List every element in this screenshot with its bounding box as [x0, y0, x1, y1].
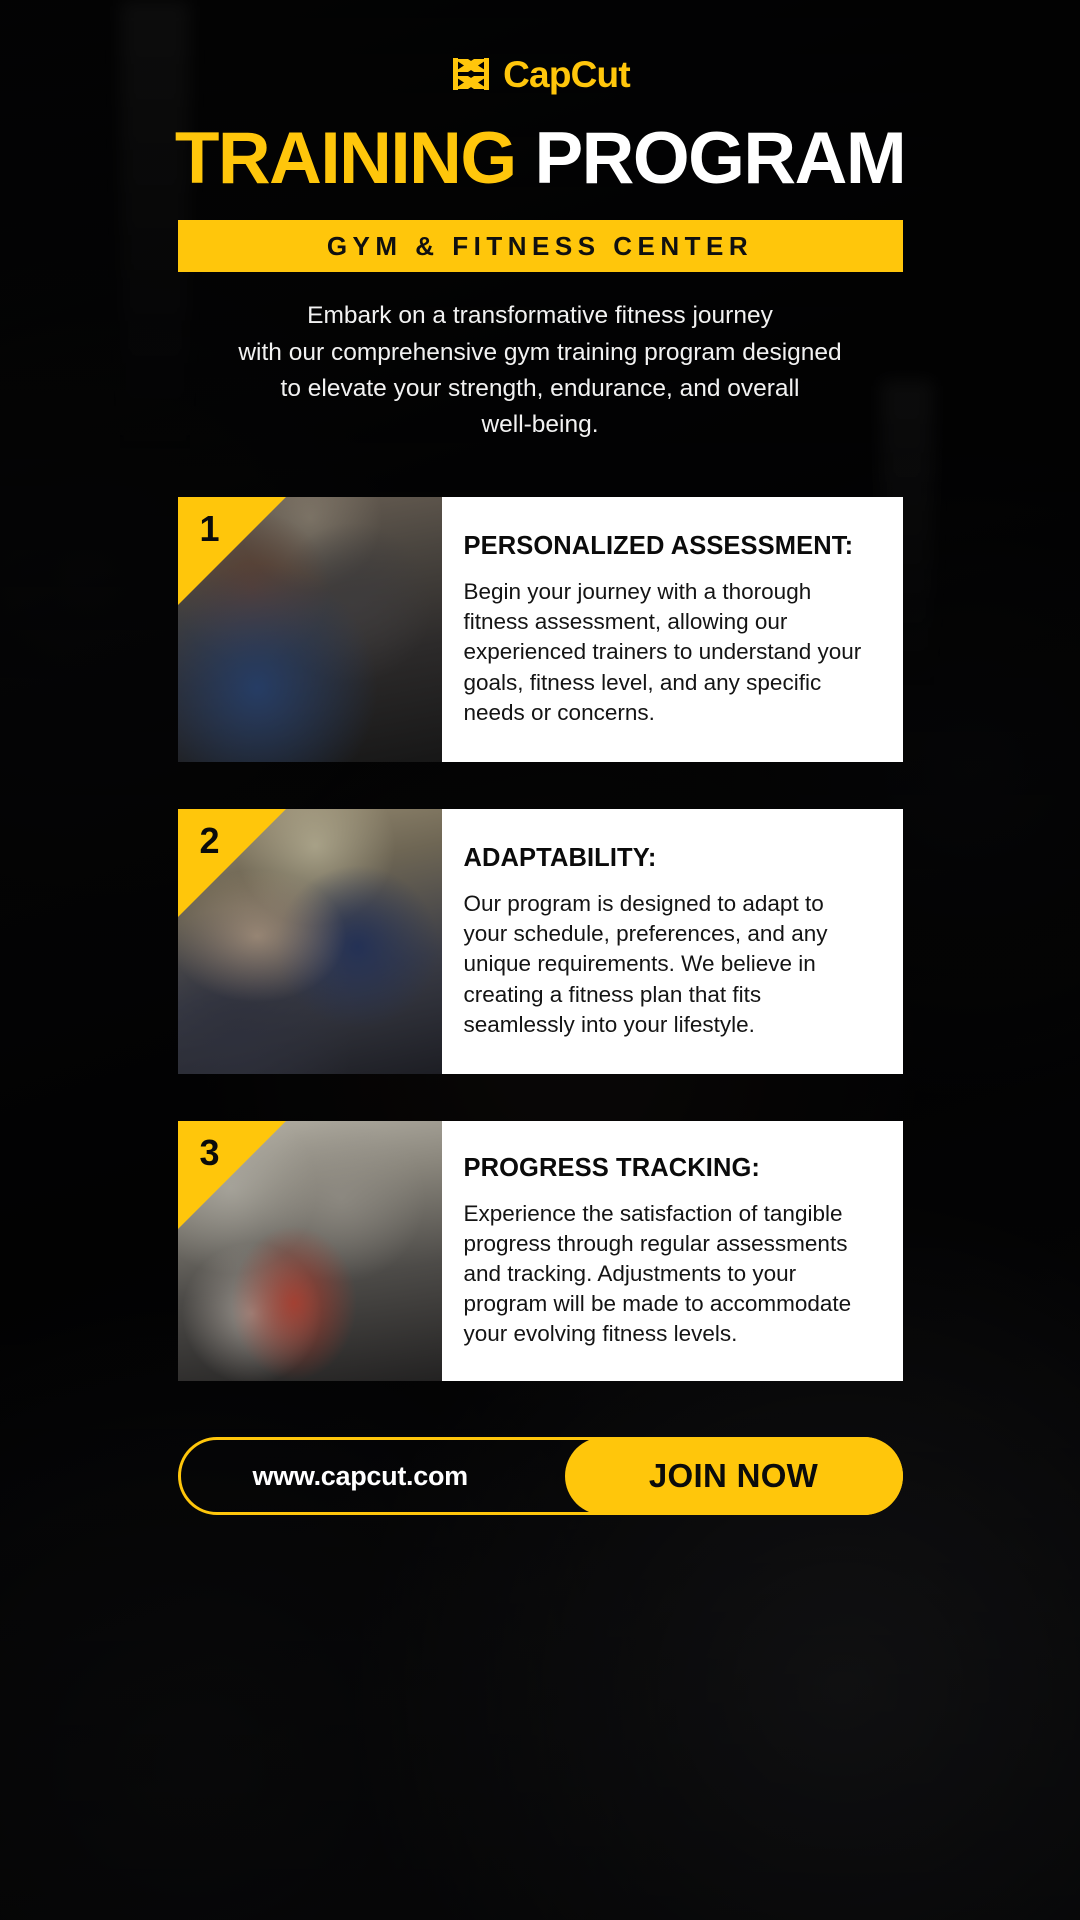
capcut-logo-icon — [450, 55, 492, 93]
step-number-1: 1 — [200, 511, 220, 547]
step-text-2: Our program is designed to adapt to your… — [464, 889, 869, 1040]
program-step-card: 3 PROGRESS TRACKING: Experience the sati… — [178, 1121, 903, 1381]
step-content: PERSONALIZED ASSESSMENT: Begin your jour… — [442, 497, 903, 762]
capcut-logo-text: CapCut — [503, 56, 630, 93]
step-photo-3: 3 — [178, 1121, 442, 1381]
step-corner-triangle — [178, 497, 286, 605]
poster-header: CapCut TRAINING PROGRAM GYM & FITNESS CE… — [0, 0, 1080, 443]
step-text-3: Experience the satisfaction of tangible … — [464, 1199, 869, 1350]
step-heading-2: ADAPTABILITY: — [464, 844, 869, 873]
program-step-card: 2 ADAPTABILITY: Our program is designed … — [178, 809, 903, 1074]
program-steps-list: 1 PERSONALIZED ASSESSMENT: Begin your jo… — [0, 497, 1080, 1381]
intro-line-3: to elevate your strength, endurance, and… — [190, 371, 890, 407]
subtitle-banner-text: GYM & FITNESS CENTER — [327, 231, 753, 262]
intro-line-4: well-being. — [190, 407, 890, 443]
step-corner-triangle — [178, 1121, 286, 1229]
step-content: ADAPTABILITY: Our program is designed to… — [442, 809, 903, 1074]
capcut-logo: CapCut — [0, 52, 1080, 96]
title-part-training: TRAINING — [175, 118, 516, 199]
step-number-2: 2 — [200, 823, 220, 859]
training-program-poster: CapCut TRAINING PROGRAM GYM & FITNESS CE… — [0, 0, 1080, 1920]
step-photo-1: 1 — [178, 497, 442, 762]
step-corner-triangle — [178, 809, 286, 917]
join-now-label: JOIN NOW — [649, 1457, 818, 1495]
intro-line-2: with our comprehensive gym training prog… — [190, 335, 890, 371]
step-number-3: 3 — [200, 1135, 220, 1171]
step-heading-1: PERSONALIZED ASSESSMENT: — [464, 532, 869, 561]
intro-line-1: Embark on a transformative fitness journ… — [190, 298, 890, 334]
program-step-card: 1 PERSONALIZED ASSESSMENT: Begin your jo… — [178, 497, 903, 762]
title-part-program: PROGRAM — [534, 118, 905, 199]
step-photo-2: 2 — [178, 809, 442, 1074]
footer-cta-bar: www.capcut.com JOIN NOW — [178, 1437, 903, 1515]
join-now-button[interactable]: JOIN NOW — [565, 1437, 903, 1515]
page-title: TRAINING PROGRAM — [0, 122, 1080, 196]
step-text-1: Begin your journey with a thorough fitne… — [464, 577, 869, 728]
step-heading-3: PROGRESS TRACKING: — [464, 1154, 869, 1183]
subtitle-banner: GYM & FITNESS CENTER — [178, 220, 903, 272]
website-url-text: www.capcut.com — [253, 1461, 468, 1492]
intro-paragraph: Embark on a transformative fitness journ… — [190, 298, 890, 443]
step-content: PROGRESS TRACKING: Experience the satisf… — [442, 1121, 903, 1381]
